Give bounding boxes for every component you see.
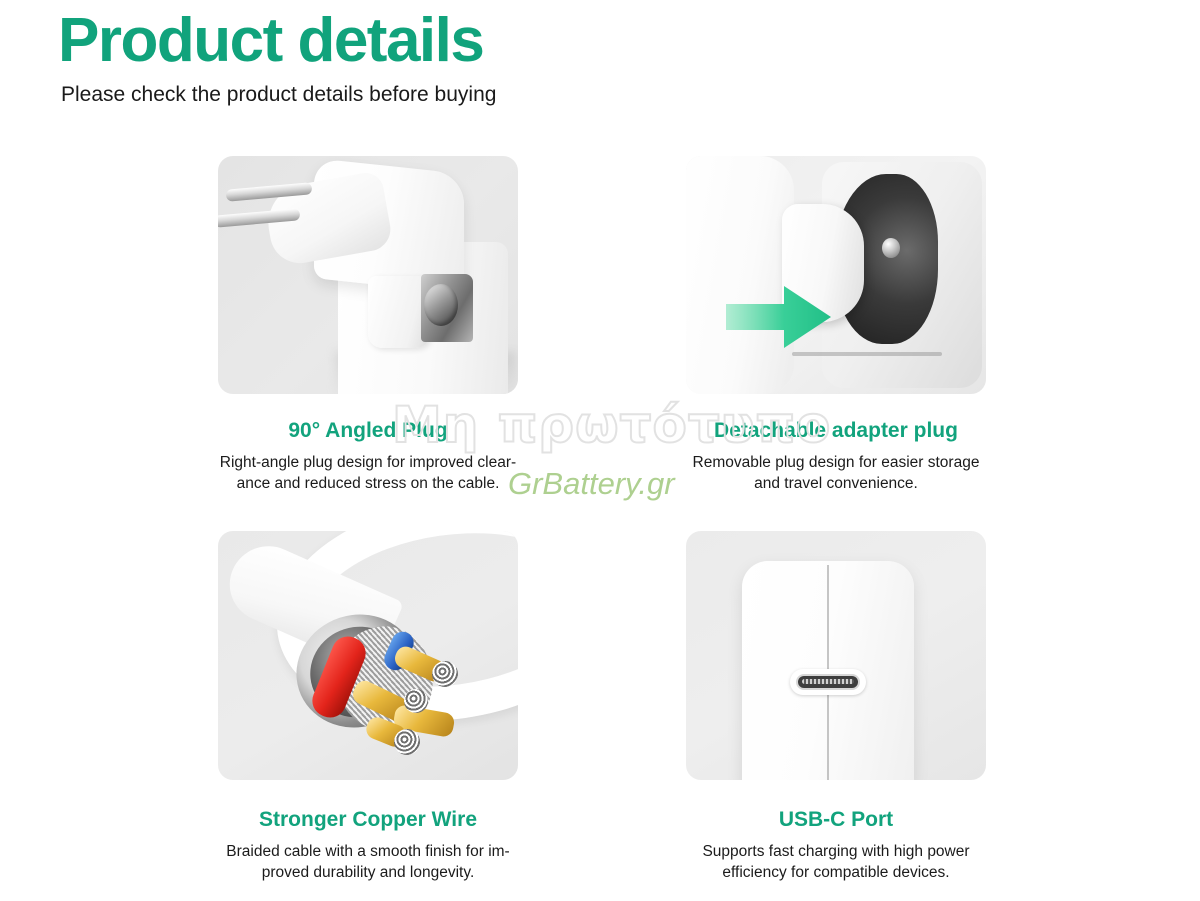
feature-title: 90° Angled Plug	[218, 418, 518, 443]
feature-description: Supports fast charging with high power e…	[686, 842, 986, 883]
page-title: Product details	[58, 8, 958, 73]
detachable-adapter-photo	[686, 156, 986, 394]
feature-grid: 90° Angled Plug Right-angle plug design …	[0, 156, 1200, 901]
copper-wire-photo	[218, 531, 518, 780]
usb-c-port-photo	[686, 531, 986, 780]
wire-strand-bundle	[394, 729, 420, 755]
feature-title: Stronger Copper Wire	[218, 807, 518, 832]
adapter-seam	[792, 352, 942, 356]
adapter-body	[686, 156, 794, 394]
wire-strand-bundle	[432, 661, 458, 687]
feature-description: Removable plug design for easier storage…	[686, 453, 986, 494]
feature-description: Braided cable with a smooth finish for i…	[218, 842, 518, 883]
feature-title: Detachable adapter plug	[686, 418, 986, 443]
feature-card-detachable-adapter: Detachable adapter plug Removable plug d…	[686, 156, 986, 494]
feature-row-top: 90° Angled Plug Right-angle plug design …	[0, 156, 1200, 531]
page-header: Product details Please check the product…	[58, 8, 958, 107]
wire-strand-bundle	[404, 689, 428, 713]
green-arrow-icon	[726, 284, 832, 350]
feature-row-bottom: Stronger Copper Wire Braided cable with …	[0, 531, 1200, 901]
page-subtitle: Please check the product details before …	[61, 82, 958, 107]
usb-c-port-pins	[802, 679, 854, 684]
plug-metal-ring	[424, 284, 458, 326]
feature-card-copper-wire: Stronger Copper Wire Braided cable with …	[218, 531, 518, 883]
feature-card-angled-plug: 90° Angled Plug Right-angle plug design …	[218, 156, 518, 494]
feature-card-usb-c-port: USB-C Port Supports fast charging with h…	[686, 531, 986, 883]
feature-title: USB-C Port	[686, 807, 986, 832]
adapter-screw	[882, 238, 900, 258]
feature-description: Right-angle plug design for improved cle…	[218, 453, 518, 494]
angled-plug-photo	[218, 156, 518, 394]
